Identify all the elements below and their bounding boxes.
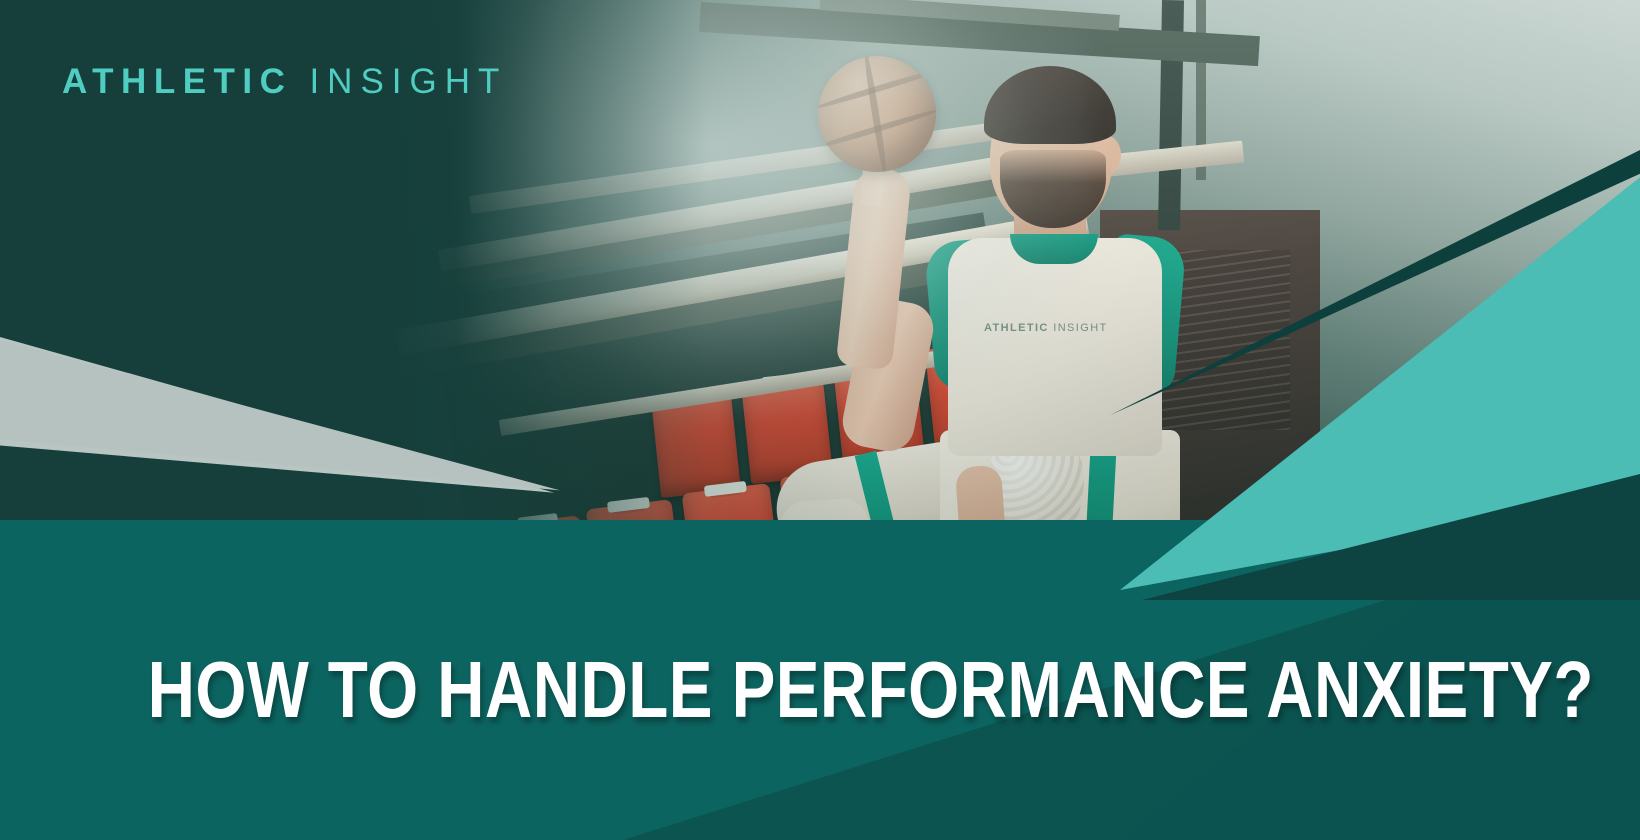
window-glare (470, 0, 1090, 410)
brand-logo-secondary: INSIGHT (309, 62, 507, 102)
brand-logo[interactable]: ATHLETIC INSIGHT (62, 62, 507, 102)
hero-banner: ATHLETIC INSIGHT ATHLETIC INSIGHT (0, 0, 1640, 840)
brand-logo-primary: ATHLETIC (62, 62, 292, 102)
page-title: HOW TO HANDLE PERFORMANCE ANXIETY? (148, 650, 1493, 730)
